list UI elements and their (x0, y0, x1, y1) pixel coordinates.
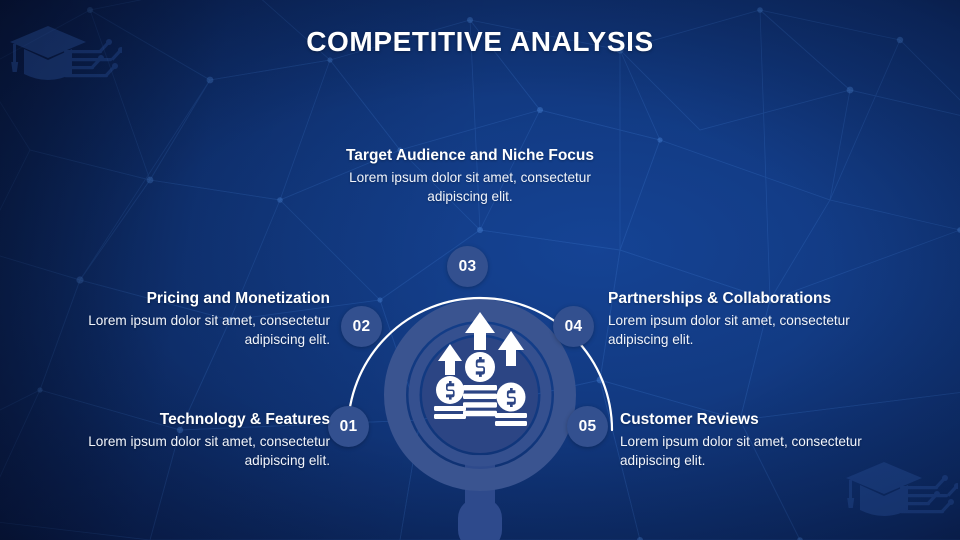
item-body: Lorem ipsum dolor sit amet, consectetur … (35, 312, 330, 350)
item-body: Lorem ipsum dolor sit amet, consectetur … (35, 433, 330, 471)
item-pricing[interactable]: Pricing and Monetization Lorem ipsum dol… (35, 289, 330, 350)
badge-03[interactable]: 03 (447, 246, 488, 287)
item-heading: Technology & Features (35, 410, 330, 430)
item-partnerships[interactable]: Partnerships & Collaborations Lorem ipsu… (608, 289, 908, 350)
magnifier-growth-graphic (310, 240, 650, 540)
item-target-audience[interactable]: Target Audience and Niche Focus Lorem ip… (330, 146, 610, 207)
item-heading: Partnerships & Collaborations (608, 289, 908, 309)
item-heading: Pricing and Monetization (35, 289, 330, 309)
item-body: Lorem ipsum dolor sit amet, consectetur … (608, 312, 908, 350)
badge-05[interactable]: 05 (567, 406, 608, 447)
slide-canvas: COMPETITIVE ANALYSIS (0, 0, 960, 540)
item-heading: Customer Reviews (620, 410, 920, 430)
page-title: COMPETITIVE ANALYSIS (0, 26, 960, 58)
item-technology[interactable]: Technology & Features Lorem ipsum dolor … (35, 410, 330, 471)
item-heading: Target Audience and Niche Focus (330, 146, 610, 166)
badge-04[interactable]: 04 (553, 306, 594, 347)
item-body: Lorem ipsum dolor sit amet, consectetur … (330, 169, 610, 207)
badge-02[interactable]: 02 (341, 306, 382, 347)
item-body: Lorem ipsum dolor sit amet, consectetur … (620, 433, 920, 471)
badge-01[interactable]: 01 (328, 406, 369, 447)
item-customer-reviews[interactable]: Customer Reviews Lorem ipsum dolor sit a… (620, 410, 920, 471)
